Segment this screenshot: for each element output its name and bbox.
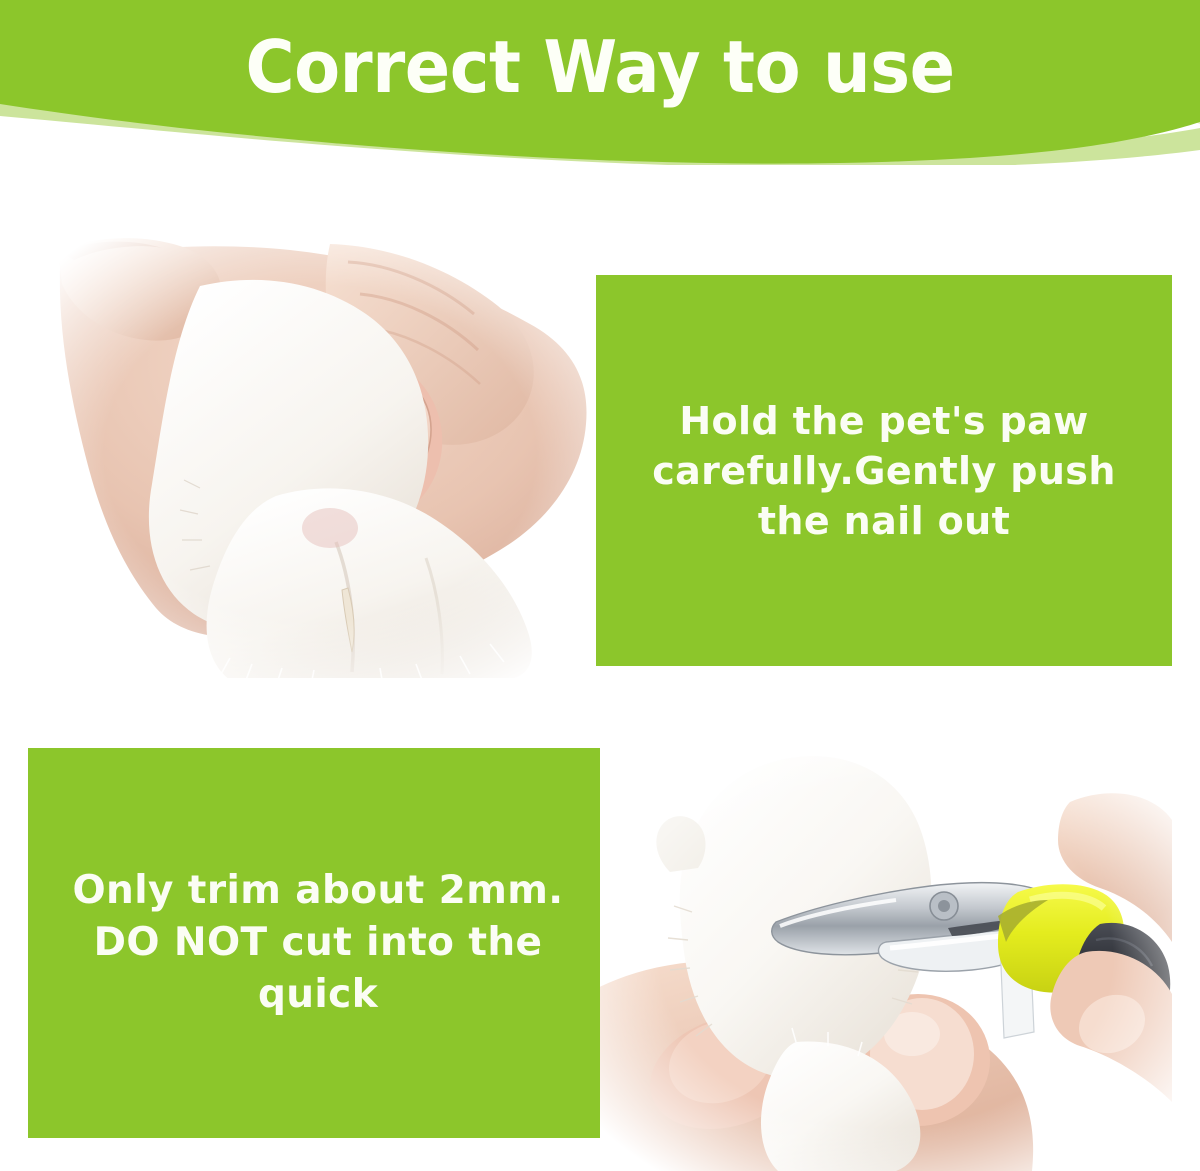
step-2-caption: Only trim about 2mm. DO NOT cut into the… xyxy=(52,865,584,1021)
photo-clipping-cat-nail-with-yellow-clipper xyxy=(600,742,1172,1171)
step-1-caption: Hold the pet's paw carefully.Gently push… xyxy=(622,396,1146,546)
step-1-image xyxy=(30,228,610,678)
step-1-caption-panel: Hold the pet's paw carefully.Gently push… xyxy=(596,275,1172,666)
step-2-caption-panel: Only trim about 2mm. DO NOT cut into the… xyxy=(28,748,608,1138)
step-2-image xyxy=(600,742,1172,1171)
page-title: Correct Way to use xyxy=(42,26,1158,108)
header-banner: Correct Way to use xyxy=(0,0,1200,165)
photo-hand-holding-white-cat-paw xyxy=(30,228,610,678)
